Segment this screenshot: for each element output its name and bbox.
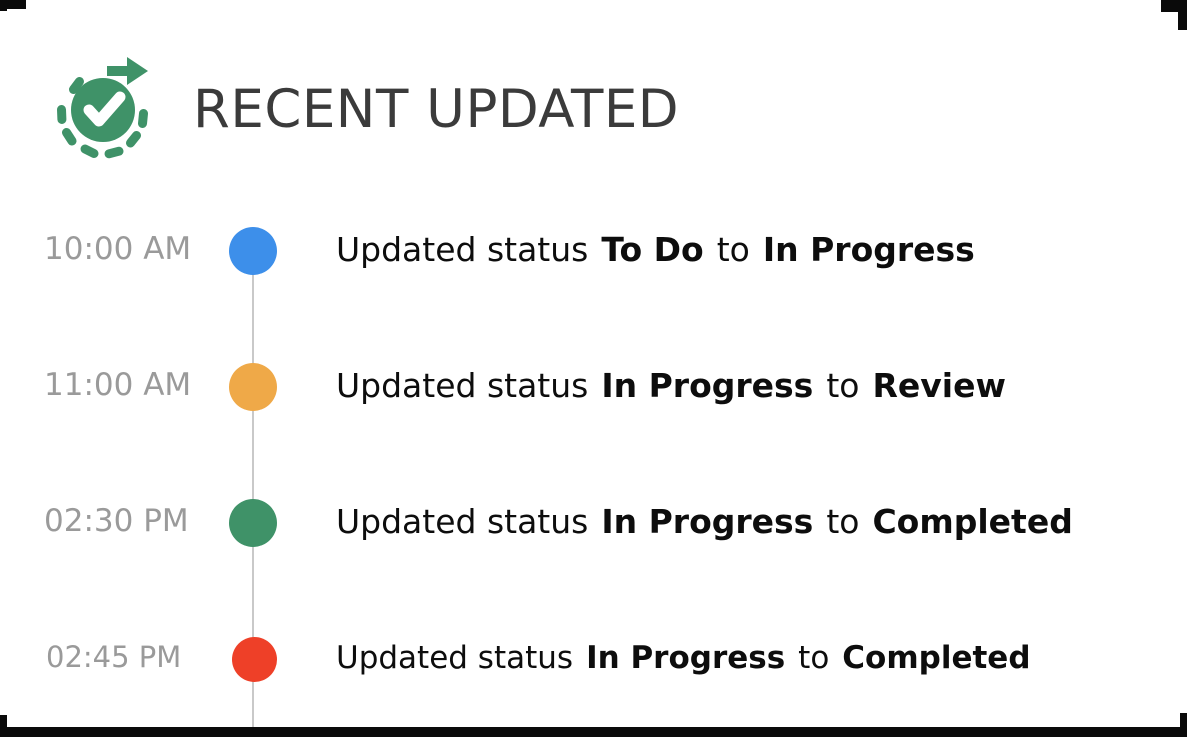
timeline-row-label: Updated status — [336, 640, 573, 676]
timeline-row-text: Updated statusIn ProgresstoCompleted — [336, 635, 1031, 681]
timeline-row-from-status: In Progress — [601, 502, 813, 541]
timeline-row-to-status: Completed — [872, 502, 1072, 541]
timeline-row-text: Updated statusTo DotoIn Progress — [336, 227, 975, 273]
timeline-row-conjunction: to — [826, 366, 859, 405]
card-header: RECENT UPDATED — [45, 48, 679, 168]
timeline-row-from-status: In Progress — [601, 366, 813, 405]
timeline-row-from-status: To Do — [601, 230, 703, 269]
timeline-row-to-status: Review — [872, 366, 1005, 405]
timeline-row-to-status: In Progress — [763, 230, 975, 269]
timeline-row-time: 10:00 AM — [44, 227, 216, 271]
timeline-row-text: Updated statusIn ProgresstoReview — [336, 363, 1006, 409]
timeline-row-label: Updated status — [336, 502, 588, 541]
status-dot-green[interactable] — [229, 499, 277, 547]
timeline-row-time: 11:00 AM — [44, 363, 216, 407]
recent-updated-card: RECENT UPDATED 10:00 AM Updated statusTo… — [0, 0, 1187, 737]
status-dot-red[interactable] — [232, 637, 277, 682]
timeline-row[interactable]: 10:00 AM Updated statusTo DotoIn Progres… — [0, 205, 1187, 341]
timeline-row[interactable]: 02:45 PM Updated statusIn ProgresstoComp… — [0, 613, 1187, 749]
timeline: 10:00 AM Updated statusTo DotoIn Progres… — [0, 205, 1187, 749]
timeline-row-time: 02:45 PM — [46, 635, 218, 679]
status-dot-orange[interactable] — [229, 363, 277, 411]
timeline-row-label: Updated status — [336, 230, 588, 269]
timeline-row-label: Updated status — [336, 366, 588, 405]
page-title: RECENT UPDATED — [193, 83, 679, 136]
timeline-row-conjunction: to — [798, 640, 829, 676]
timeline-row-to-status: Completed — [842, 640, 1030, 676]
timeline-row-from-status: In Progress — [586, 640, 785, 676]
status-dot-blue[interactable] — [229, 227, 277, 275]
timeline-row-time: 02:30 PM — [44, 499, 216, 543]
timeline-row-conjunction: to — [826, 502, 859, 541]
timeline-row[interactable]: 02:30 PM Updated statusIn ProgresstoComp… — [0, 477, 1187, 613]
refresh-check-icon — [45, 48, 167, 168]
timeline-row[interactable]: 11:00 AM Updated statusIn ProgresstoRevi… — [0, 341, 1187, 477]
timeline-row-conjunction: to — [717, 230, 750, 269]
timeline-row-text: Updated statusIn ProgresstoCompleted — [336, 499, 1073, 545]
